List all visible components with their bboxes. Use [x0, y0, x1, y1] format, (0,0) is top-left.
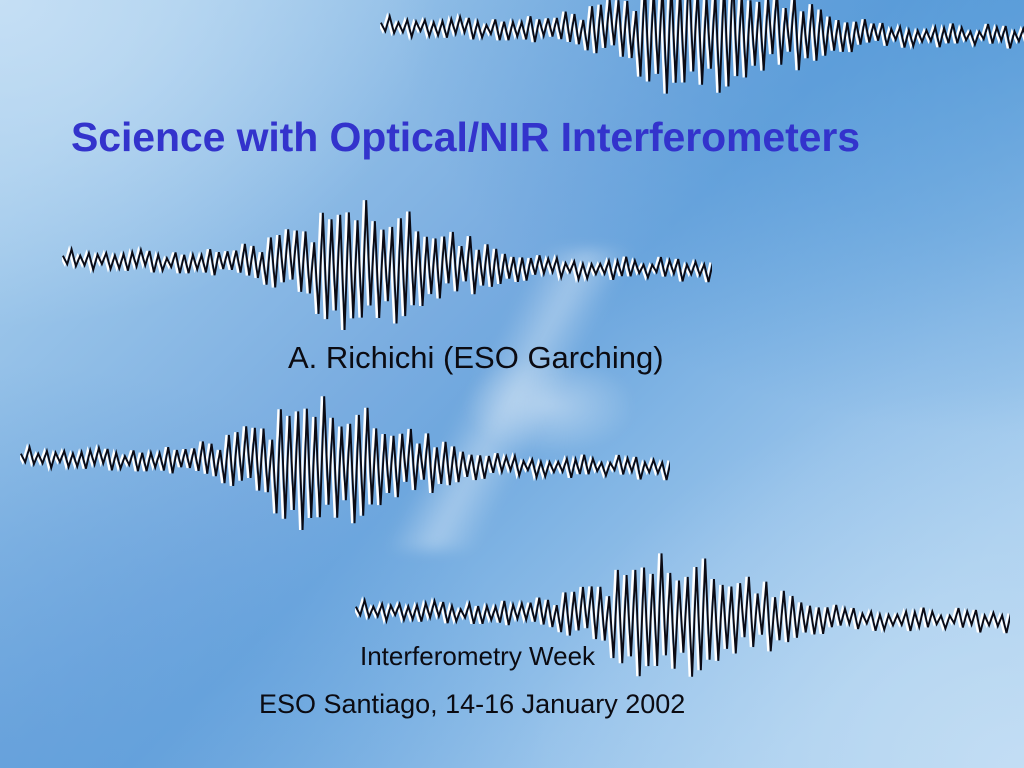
venue-and-date: ESO Santiago, 14-16 January 2002 [259, 691, 685, 718]
interferogram-shadow-trace [63, 200, 712, 330]
interferogram-shadow-trace [21, 396, 670, 530]
interferogram-top-right [380, 0, 1024, 100]
page-title: Science with Optical/NIR Interferometers [71, 117, 860, 158]
diagonal-light-streak [300, 250, 720, 550]
interferogram-shadow-trace [381, 0, 1024, 94]
interferogram-highlight-trace [20, 396, 668, 530]
event-name: Interferometry Week [360, 643, 595, 669]
presentation-slide: Science with Optical/NIR Interferometers… [0, 0, 1024, 768]
interferogram-highlight-trace [62, 200, 710, 330]
author-line: A. Richichi (ESO Garching) [288, 342, 664, 373]
interferogram-mid-left [20, 390, 670, 530]
interferogram-highlight-trace [380, 0, 1024, 94]
interferogram-upper-left [62, 195, 712, 330]
